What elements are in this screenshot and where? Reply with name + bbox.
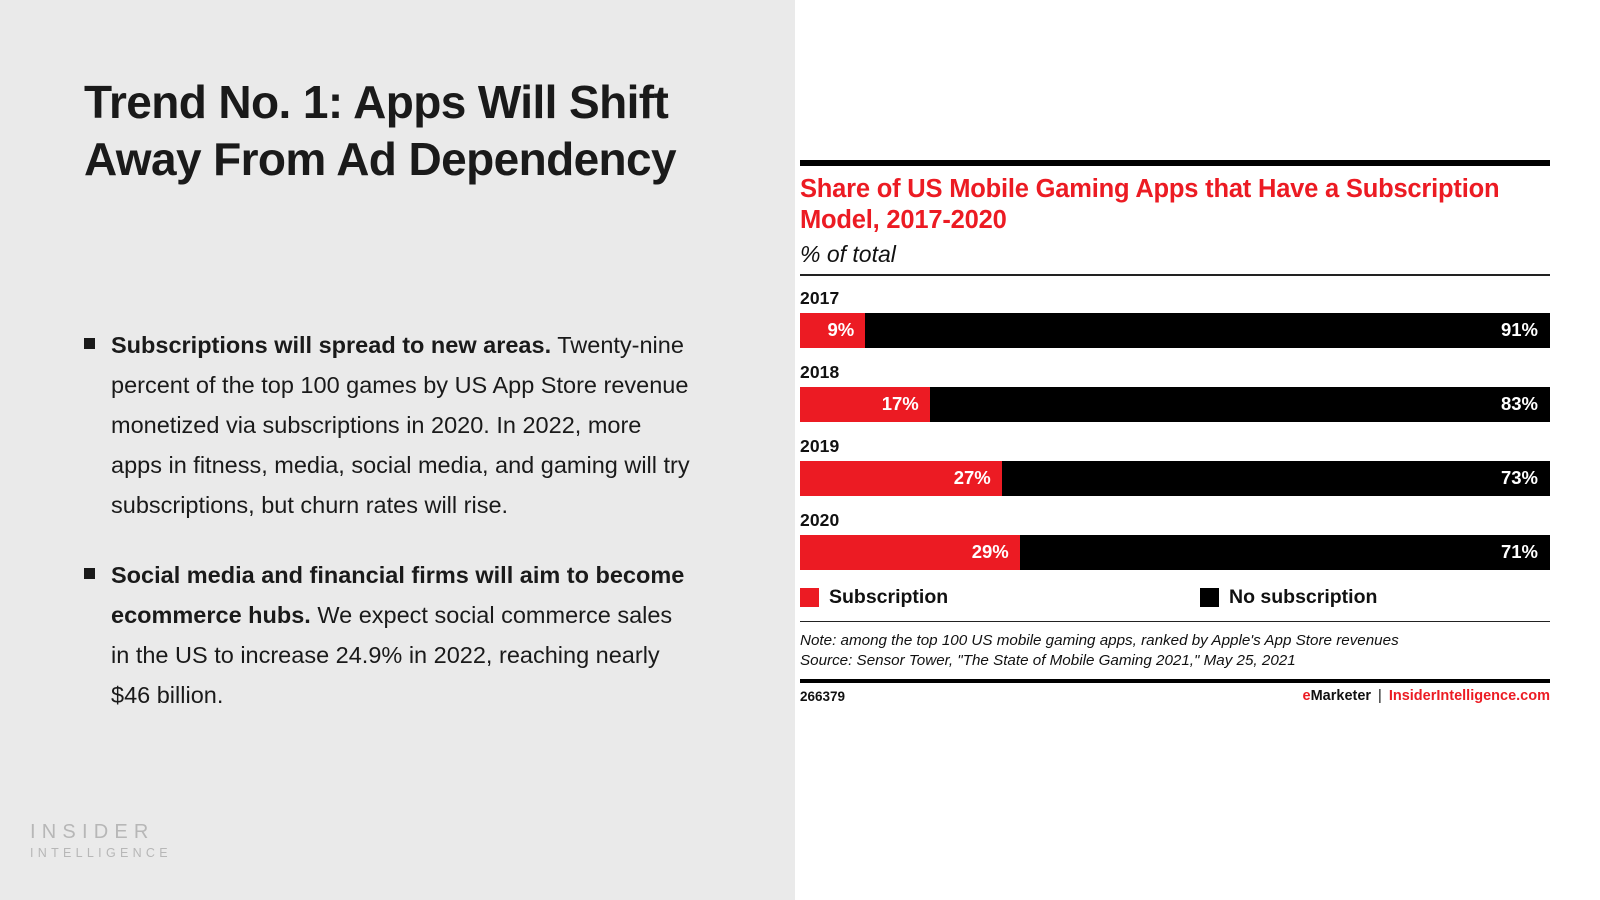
list-item: Social media and financial firms will ai… [84, 555, 709, 715]
bullet-lead: Subscriptions will spread to new areas. [111, 332, 551, 358]
legend-item-subscription: Subscription [800, 586, 1200, 609]
bullet-list: Subscriptions will spread to new areas. … [84, 325, 709, 745]
chart-header-divider [800, 274, 1550, 276]
bar-segment-subscription: 17% [800, 387, 930, 422]
bar-category-label: 2018 [800, 362, 1550, 383]
bar-value-label: 17% [882, 393, 919, 415]
bar-row-2018: 2018 17% 83% [800, 362, 1550, 422]
brand-name: Marketer [1311, 688, 1371, 704]
bar-category-label: 2019 [800, 436, 1550, 457]
bar-chart: 2017 9% 91% 2018 17% [800, 288, 1550, 570]
bullet-text: Subscriptions will spread to new areas. … [111, 325, 696, 525]
bar-value-label: 83% [1501, 393, 1538, 415]
brand-e-mark: e [1303, 688, 1311, 704]
table-row: 9% 91% [800, 313, 1550, 348]
legend-label: Subscription [829, 586, 948, 609]
table-row: 27% 73% [800, 461, 1550, 496]
bar-segment-subscription: 9% [800, 313, 865, 348]
bar-value-label: 9% [828, 319, 855, 341]
bullet-square-icon [84, 338, 95, 349]
brand-url[interactable]: InsiderIntelligence.com [1389, 688, 1550, 704]
bar-value-label: 91% [1501, 319, 1538, 341]
brand-separator: | [1378, 688, 1382, 704]
list-item: Subscriptions will spread to new areas. … [84, 325, 709, 525]
chart-top-rule [800, 160, 1550, 166]
chart-subtitle: % of total [800, 240, 1550, 268]
bar-value-label: 73% [1501, 467, 1538, 489]
legend-swatch-icon [1200, 588, 1219, 607]
bar-segment-subscription: 29% [800, 535, 1020, 570]
logo-line-insider: INSIDER [30, 820, 172, 844]
bullet-body: Twenty-nine percent of the top 100 games… [111, 332, 690, 518]
bar-segment-no-subscription: 71% [1020, 535, 1550, 570]
legend-label: No subscription [1229, 586, 1377, 609]
bar-row-2019: 2019 27% 73% [800, 436, 1550, 496]
chart-notes-divider [800, 621, 1550, 623]
bar-row-2020: 2020 29% 71% [800, 510, 1550, 570]
brand-attribution: eMarketer | InsiderIntelligence.com [1303, 688, 1550, 704]
slide: Trend No. 1: Apps Will Shift Away From A… [0, 0, 1600, 900]
bar-value-label: 71% [1501, 541, 1538, 563]
insider-intelligence-logo: INSIDER INTELLIGENCE [30, 820, 172, 862]
bar-category-label: 2020 [800, 510, 1550, 531]
bullet-square-icon [84, 568, 95, 579]
bar-value-label: 27% [954, 467, 991, 489]
chart-source-line: Source: Sensor Tower, "The State of Mobi… [800, 651, 1550, 671]
bullet-text: Social media and financial firms will ai… [111, 555, 696, 715]
bar-segment-no-subscription: 91% [865, 313, 1550, 348]
bar-segment-subscription: 27% [800, 461, 1002, 496]
page-title: Trend No. 1: Apps Will Shift Away From A… [84, 74, 684, 188]
legend-item-no-subscription: No subscription [1200, 586, 1377, 609]
bar-category-label: 2017 [800, 288, 1550, 309]
bar-segment-no-subscription: 83% [930, 387, 1550, 422]
chart-id: 266379 [800, 689, 845, 704]
chart-note-line: Note: among the top 100 US mobile gaming… [800, 631, 1550, 651]
chart-container: Share of US Mobile Gaming Apps that Have… [800, 160, 1550, 704]
bar-value-label: 29% [972, 541, 1009, 563]
chart-legend: Subscription No subscription [800, 586, 1550, 609]
left-content-panel: Trend No. 1: Apps Will Shift Away From A… [0, 0, 795, 900]
table-row: 17% 83% [800, 387, 1550, 422]
chart-panel: Share of US Mobile Gaming Apps that Have… [795, 0, 1600, 900]
chart-bottom-rule [800, 679, 1550, 683]
table-row: 29% 71% [800, 535, 1550, 570]
legend-swatch-icon [800, 588, 819, 607]
chart-title: Share of US Mobile Gaming Apps that Have… [800, 174, 1540, 236]
bar-row-2017: 2017 9% 91% [800, 288, 1550, 348]
chart-notes: Note: among the top 100 US mobile gaming… [800, 631, 1550, 671]
chart-footer: 266379 eMarketer | InsiderIntelligence.c… [800, 688, 1550, 704]
bar-segment-no-subscription: 73% [1002, 461, 1550, 496]
logo-line-intelligence: INTELLIGENCE [30, 844, 172, 862]
